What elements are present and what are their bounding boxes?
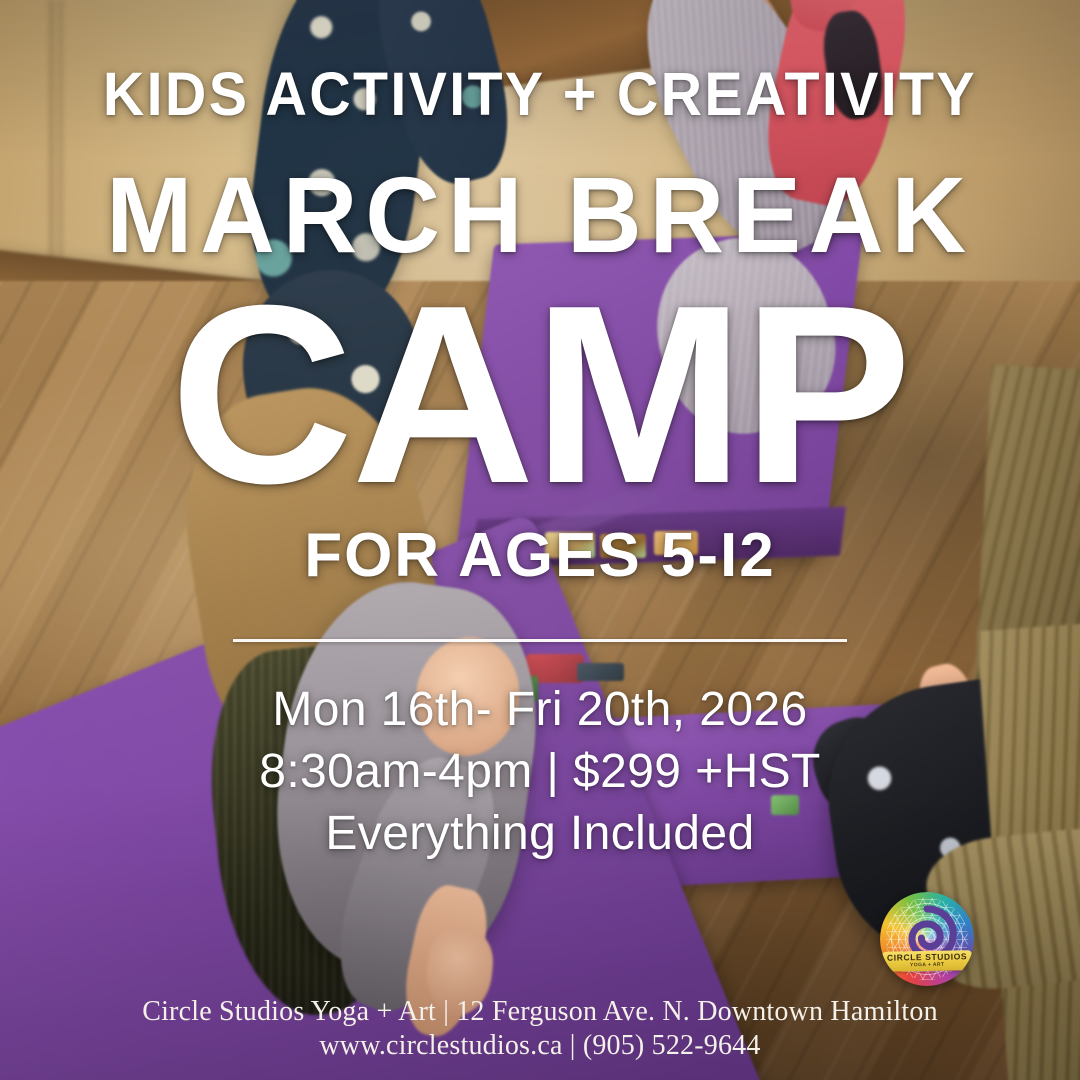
footer-address-line: Circle Studios Yoga + Art | 12 Ferguson … <box>142 996 938 1028</box>
detail-inclusions: Everything Included <box>259 806 821 862</box>
logo-tagline-text: YOGA + ART <box>910 963 944 969</box>
detail-dates: Mon 16th- Fri 20th, 2026 <box>259 682 821 738</box>
circle-studios-logo-icon: CIRCLE STUDIOS YOGA + ART <box>880 892 974 986</box>
footer-web-phone-line: www.circlestudios.ca | (905) 522-9644 <box>319 1030 760 1062</box>
age-range-subtitle: FOR AGES 5-I2 <box>304 525 776 587</box>
footer-contact-info: Circle Studios Yoga + Art | 12 Ferguson … <box>0 996 1080 1062</box>
detail-time-price: 8:30am-4pm | $299 +HST <box>259 744 821 800</box>
divider-rule <box>233 639 847 642</box>
title-line-march-break: MARCH BREAK <box>106 161 974 269</box>
eyebrow-headline: KIDS ACTIVITY + CREATIVITY <box>103 64 977 125</box>
logo-spiral-icon <box>880 892 974 986</box>
logo-name-banner: CIRCLE STUDIOS YOGA + ART <box>882 950 973 971</box>
march-break-camp-poster: KIDS ACTIVITY + CREATIVITY MARCH BREAK C… <box>0 0 1080 1080</box>
title-line-camp: CAMP <box>170 273 910 517</box>
camp-details: Mon 16th- Fri 20th, 2026 8:30am-4pm | $2… <box>259 682 821 862</box>
